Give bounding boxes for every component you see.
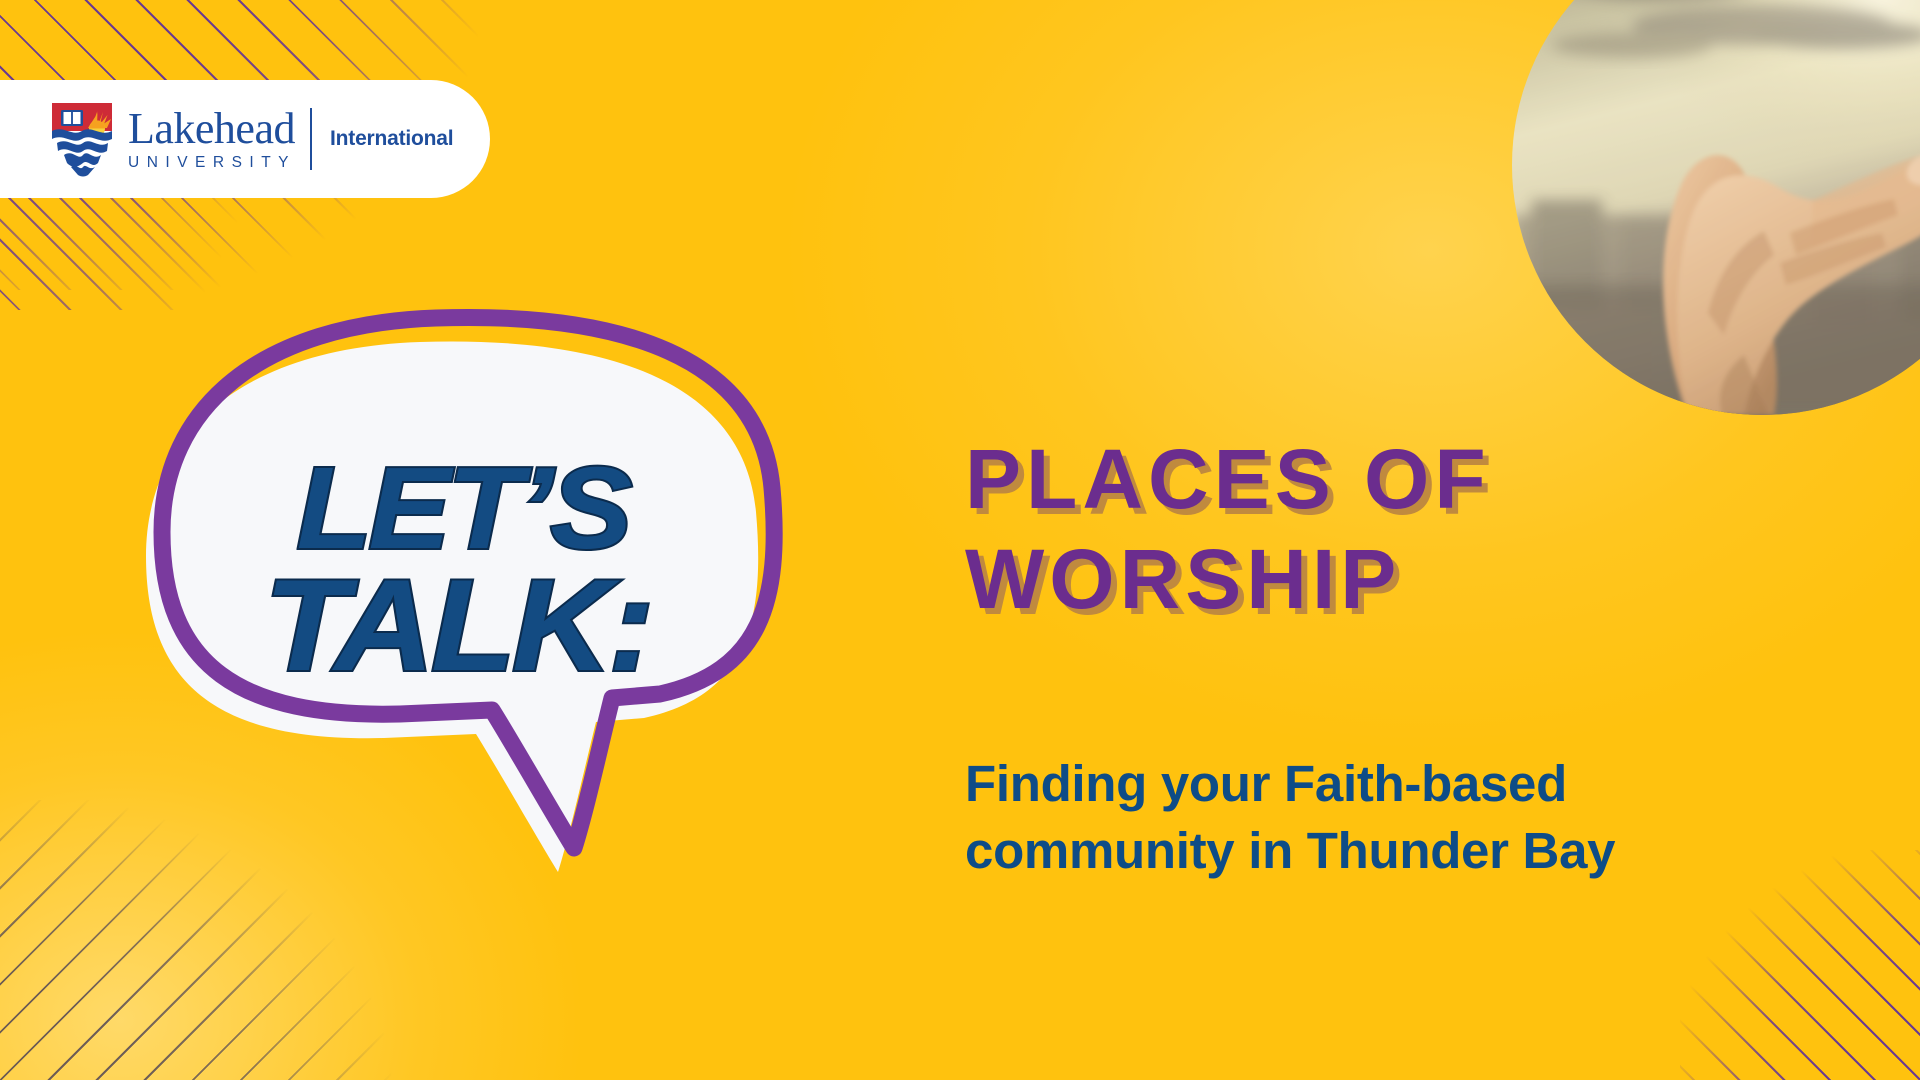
praying-hands-photo-image: [1512, 0, 1920, 415]
speech-bubble: LET’S TALK:: [100, 280, 820, 860]
logo-divider: [310, 108, 312, 170]
logo-name-text: Lakehead: [128, 107, 296, 151]
subtitle-line-2: community in Thunder Bay: [965, 817, 1785, 884]
lakehead-wordmark: Lakehead UNIVERSITY: [128, 107, 296, 172]
headline-line-2: WORSHIP: [965, 530, 1765, 630]
logo-unit-text: International: [330, 127, 453, 151]
subtitle: Finding your Faith-based community in Th…: [965, 750, 1785, 885]
headline: PLACES OF WORSHIP: [965, 430, 1765, 630]
logo-subname-text: UNIVERSITY: [128, 154, 296, 172]
poster-canvas: Lakehead UNIVERSITY International: [0, 0, 1920, 1080]
subtitle-line-1: Finding your Faith-based: [965, 750, 1785, 817]
speech-bubble-shape: [100, 280, 820, 860]
lakehead-logo-banner: Lakehead UNIVERSITY International: [0, 80, 490, 198]
lakehead-crest-icon: [50, 101, 114, 177]
praying-hands-photo: [1512, 0, 1920, 415]
headline-line-1: PLACES OF: [965, 430, 1765, 530]
